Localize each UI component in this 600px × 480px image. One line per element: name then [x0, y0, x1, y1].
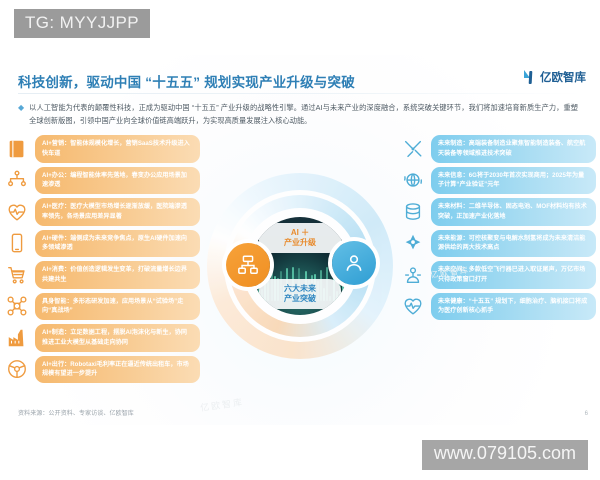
- steering-wheel-icon: [4, 356, 30, 382]
- item-text: 未来制造：高端装备制造业聚焦智能制造装备、航空航天装备等领域推进技术突破: [438, 139, 589, 159]
- phone-icon: [4, 230, 30, 256]
- list-item[interactable]: 未来制造：高端装备制造业聚焦智能制造装备、航空航天装备等领域推进技术突破: [400, 135, 596, 163]
- brand-logo: 亿欧智库: [524, 69, 586, 85]
- item-pill[interactable]: 未来信息：6G将于2030年首次实现商用；2025年为量子计算“产业验证”元年: [431, 167, 596, 195]
- source-note: 资料来源：公开资料、专家访谈、亿欧智库: [18, 408, 134, 417]
- heart-pulse-icon: [400, 293, 426, 319]
- y-mark-icon: [524, 70, 537, 85]
- item-text: AI+办公：编程智能体率先落地，春变办公应用场景加速渗透: [42, 171, 193, 191]
- center-watermark: 亿欧智库: [199, 395, 244, 414]
- heart-pulse-icon: [4, 199, 30, 225]
- list-item[interactable]: AI+营销：智能体规模化增长，营销SaaS技术升级进入快车道: [4, 135, 200, 163]
- item-text: 未来健康：“十五五” 规划下，细胞治疗、脑机接口将成为医疗创新核心抓手: [438, 297, 589, 317]
- item-text: AI+硬件：端侧成为未来竞争焦点，原生AI硬件加速向多领域渗透: [42, 234, 193, 254]
- item-pill[interactable]: AI+出行：Robotaxi毛利率正在逼近传统出租车，市场规模有望进一步提升: [35, 356, 200, 384]
- telegram-tag-watermark: TG: MYYJJPP: [14, 9, 150, 38]
- slide-canvas: 科技创新，驱动中国 “十五五” 规划实现产业升级与突破 亿欧智库 ◆ 以人工智能…: [0, 55, 600, 425]
- item-pill[interactable]: AI+制造：立足数据工程，摆脱AI泡沫化与新生，协同推进工业大模型从基础走向协同: [35, 324, 200, 352]
- header-divider: [18, 93, 582, 94]
- list-item[interactable]: AI+消费：价值创造逻辑发生变革，打破流量增长边界共建共生: [4, 261, 200, 289]
- book-icon: [4, 136, 30, 162]
- lead-paragraph: ◆ 以人工智能为代表的颠覆性科技，正成为驱动中国 “十五五” 产业升级的战略性引…: [18, 101, 578, 128]
- item-pill[interactable]: 未来健康：“十五五” 规划下，细胞治疗、脑机接口将成为医疗创新核心抓手: [431, 293, 596, 321]
- bullet-icon: ◆: [18, 101, 24, 114]
- item-pill[interactable]: 未来制造：高端装备制造业聚焦智能制造装备、航空航天装备等领域推进技术突破: [431, 135, 596, 163]
- item-text: AI+营销：智能体规模化增长，营销SaaS技术升级进入快车道: [42, 139, 193, 159]
- globe-icon: [400, 167, 426, 193]
- item-pill[interactable]: AI+消费：价值创造逻辑发生变革，打破流量增长边界共建共生: [35, 261, 200, 289]
- page-number: 6: [585, 411, 588, 417]
- item-text: AI+医疗：医疗大模型市场增长逐渐放缓，医院端渗透率领先，各场景应用差异显著: [42, 202, 193, 222]
- item-text: 未来空间：多款低空飞行器已进入取证尾声，万亿市场只待政策窗口打开: [438, 265, 589, 285]
- shopping-cart-icon: [4, 262, 30, 288]
- core-label-top: AI ＋ 产业升级: [259, 223, 341, 253]
- core-label-bottom-line1: 六大未来: [261, 284, 339, 294]
- core-label-bottom-line2: 产业突破: [261, 294, 339, 304]
- drone-icon: [4, 293, 30, 319]
- item-pill[interactable]: AI+硬件：端侧成为未来竞争焦点，原生AI硬件加速向多领域渗透: [35, 230, 200, 258]
- list-item[interactable]: AI+硬件：端侧成为未来竞争焦点，原生AI硬件加速向多领域渗透: [4, 230, 200, 258]
- tools-icon: [400, 136, 426, 162]
- list-item[interactable]: 未来信息：6G将于2030年首次实现商用；2025年为量子计算“产业验证”元年: [400, 167, 596, 195]
- item-text: AI+制造：立足数据工程，摆脱AI泡沫化与新生，协同推进工业大模型从基础走向协同: [42, 328, 193, 348]
- core-label-top-line2: 产业升级: [261, 238, 339, 248]
- factory-icon: [4, 325, 30, 351]
- satellite-icon: [400, 262, 426, 288]
- left-items-column: AI+营销：智能体规模化增长，营销SaaS技术升级进入快车道AI+办公：编程智能…: [4, 135, 200, 387]
- user-icon: [332, 241, 376, 285]
- site-watermark: www.079105.com: [422, 440, 588, 470]
- brand-logo-text: 亿欧智库: [540, 69, 586, 85]
- item-pill[interactable]: AI+营销：智能体规模化增长，营销SaaS技术升级进入快车道: [35, 135, 200, 163]
- list-item[interactable]: 具身智能：多形态研发加速，应用场景从“试验场”走向“真战场”: [4, 293, 200, 321]
- list-item[interactable]: 未来空间：多款低空飞行器已进入取证尾声，万亿市场只待政策窗口打开: [400, 261, 596, 289]
- right-items-column: 未来制造：高端装备制造业聚焦智能制造装备、航空航天装备等领域推进技术突破未来信息…: [400, 135, 596, 324]
- item-pill[interactable]: AI+医疗：医疗大模型市场增长逐渐放缓，医院端渗透率领先，各场景应用差异显著: [35, 198, 200, 226]
- item-pill[interactable]: 未来空间：多款低空飞行器已进入取证尾声，万亿市场只待政策窗口打开: [431, 261, 596, 289]
- core-label-top-line1: AI ＋: [261, 228, 339, 238]
- database-icon: [400, 199, 426, 225]
- central-diagram: AI ＋ 产业升级 六大未来 产业突破: [207, 173, 393, 359]
- list-item[interactable]: AI+制造：立足数据工程，摆脱AI泡沫化与新生，协同推进工业大模型从基础走向协同: [4, 324, 200, 352]
- list-item[interactable]: 未来健康：“十五五” 规划下，细胞治疗、脑机接口将成为医疗创新核心抓手: [400, 293, 596, 321]
- item-pill[interactable]: 未来材料：二维半导体、固态电池、MOF材料均有技术突破，正加速产业化落地: [431, 198, 596, 226]
- item-text: 未来能源：可控核聚变与电解水制氢将成为未来清洁能源供给的两大技术高点: [438, 234, 589, 254]
- item-text: 未来材料：二维半导体、固态电池、MOF材料均有技术突破，正加速产业化落地: [438, 202, 589, 222]
- list-item[interactable]: 未来材料：二维半导体、固态电池、MOF材料均有技术突破，正加速产业化落地: [400, 198, 596, 226]
- lead-paragraph-text: 以人工智能为代表的颠覆性科技，正成为驱动中国 “十五五” 产业升级的战略性引擎。…: [29, 101, 578, 128]
- list-item[interactable]: AI+出行：Robotaxi毛利率正在逼近传统出租车，市场规模有望进一步提升: [4, 356, 200, 384]
- page-title: 科技创新，驱动中国 “十五五” 规划实现产业升级与突破: [18, 71, 355, 91]
- core-label-bottom: 六大未来 产业突破: [259, 279, 341, 309]
- item-pill[interactable]: 具身智能：多形态研发加速，应用场景从“试验场”走向“真战场”: [35, 293, 200, 321]
- org-chart-icon: [226, 243, 270, 287]
- item-text: 未来信息：6G将于2030年首次实现商用；2025年为量子计算“产业验证”元年: [438, 171, 589, 191]
- item-pill[interactable]: 未来能源：可控核聚变与电解水制氢将成为未来清洁能源供给的两大技术高点: [431, 230, 596, 258]
- item-text: AI+出行：Robotaxi毛利率正在逼近传统出租车，市场规模有望进一步提升: [42, 360, 193, 380]
- atom-icon: [400, 230, 426, 256]
- item-text: AI+消费：价值创造逻辑发生变革，打破流量增长边界共建共生: [42, 265, 193, 285]
- item-pill[interactable]: AI+办公：编程智能体率先落地，春变办公应用场景加速渗透: [35, 167, 200, 195]
- list-item[interactable]: AI+办公：编程智能体率先落地，春变办公应用场景加速渗透: [4, 167, 200, 195]
- list-item[interactable]: AI+医疗：医疗大模型市场增长逐渐放缓，医院端渗透率领先，各场景应用差异显著: [4, 198, 200, 226]
- list-item[interactable]: 未来能源：可控核聚变与电解水制氢将成为未来清洁能源供给的两大技术高点: [400, 230, 596, 258]
- org-people-icon: [4, 167, 30, 193]
- item-text: 具身智能：多形态研发加速，应用场景从“试验场”走向“真战场”: [42, 297, 193, 317]
